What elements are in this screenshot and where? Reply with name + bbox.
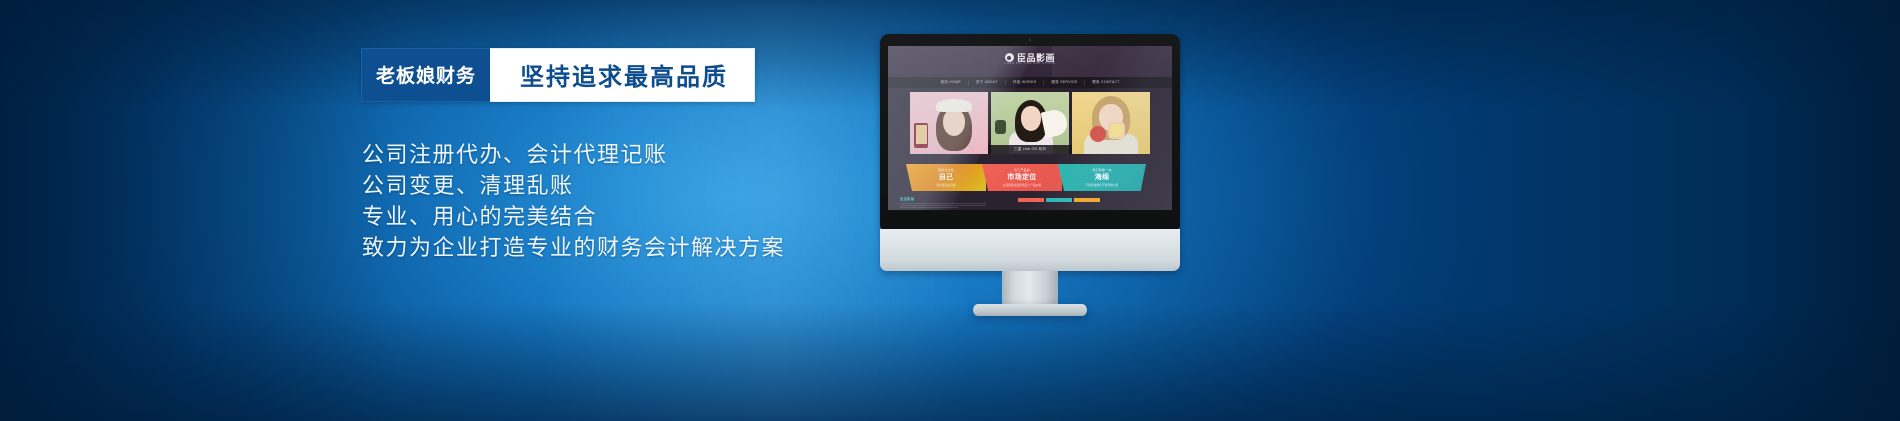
nav-item-works[interactable]: 作品 WORKS [1006, 80, 1044, 85]
gallery-strip: 三星 chat ON 系列 [910, 92, 1150, 154]
imac-bezel: 臣品影画 CHEN PIN YING HUA STUDIO 首页 HOME 关于… [880, 34, 1180, 229]
imac-stand-base [973, 304, 1087, 316]
gallery-photo[interactable] [1072, 92, 1150, 154]
photo-detail [1090, 126, 1106, 142]
text-placeholder-line [900, 205, 986, 206]
service-line: 公司变更、清理乱账 [362, 171, 785, 201]
gallery-caption: 三星 chat ON 系列 [988, 145, 1072, 154]
headline-badge: 老板娘财务 坚持追求最高品质 [361, 48, 755, 102]
site-header: 臣品影画 CHEN PIN YING HUA STUDIO [888, 46, 1172, 77]
promo-card-bottom: 用创意表达自我 [936, 183, 955, 187]
nav-item-about[interactable]: 关于 ABOUT [969, 80, 1006, 85]
promo-card-bottom: 从消费者出发重新定义产品价值 [1003, 183, 1041, 187]
site-logo-subtitle: CHEN PIN YING HUA STUDIO [888, 61, 1172, 65]
imac-screen: 臣品影画 CHEN PIN YING HUA STUDIO 首页 HOME 关于… [888, 46, 1172, 210]
color-tab[interactable] [1046, 198, 1072, 202]
promo-card-title: 海绵 [1095, 172, 1110, 182]
imac-chin [880, 229, 1180, 271]
photo-detail [995, 120, 1006, 134]
service-line: 专业、用心的完美结合 [362, 202, 785, 232]
photo-detail [943, 109, 965, 136]
site-footer-text-lines [900, 203, 986, 209]
site-footer: 臣品影画 [900, 196, 986, 210]
apple-logo-icon [1023, 239, 1037, 255]
color-tab[interactable] [1018, 198, 1044, 202]
promo-card-title: 自己 [939, 172, 954, 182]
nav-item-home[interactable]: 首页 HOME [933, 80, 968, 85]
headline-text: 坚持追求最高品质 [490, 48, 755, 102]
promo-card[interactable]: 为了产品的 市场定位 从消费者出发重新定义产品价值 [982, 164, 1062, 191]
brand-tag: 老板娘财务 [361, 48, 490, 102]
promo-card-bottom: 不断吸收精华不断释放创意 [1086, 183, 1119, 187]
promo-cards: 把想法交给 自己 用创意表达自我 为了产品的 市场定位 从消费者出发重新定义产品… [906, 164, 1154, 191]
website-preview: 臣品影画 CHEN PIN YING HUA STUDIO 首页 HOME 关于… [888, 46, 1172, 210]
photo-detail [1110, 124, 1123, 137]
promo-card-title: 市场定位 [1007, 172, 1036, 182]
photo-detail [936, 99, 972, 112]
promo-card[interactable]: 把想法交给 自己 用创意表达自我 [906, 164, 986, 191]
imac-stand-neck [1002, 271, 1058, 307]
promo-card[interactable]: 我们就像一块 海绵 不断吸收精华不断释放创意 [1058, 164, 1146, 191]
hero-banner: 老板娘财务 坚持追求最高品质 公司注册代办、会计代理记账 公司变更、清理乱账 专… [0, 0, 1900, 421]
site-nav[interactable]: 首页 HOME 关于 ABOUT 作品 WORKS 服务 SERVICE 联系 … [888, 77, 1172, 88]
nav-item-service[interactable]: 服务 SERVICE [1044, 80, 1085, 85]
promo-card-top: 把想法交给 [938, 168, 954, 172]
nav-item-contact[interactable]: 联系 CONTACT [1085, 80, 1126, 85]
footer-color-tabs [1018, 198, 1100, 202]
imac-mockup: 臣品影画 CHEN PIN YING HUA STUDIO 首页 HOME 关于… [880, 34, 1180, 304]
promo-card-top: 我们就像一块 [1092, 168, 1111, 172]
service-line: 致力为企业打造专业的财务会计解决方案 [362, 233, 785, 263]
webcam-icon [1029, 39, 1031, 41]
service-line: 公司注册代办、会计代理记账 [362, 140, 785, 170]
text-placeholder-line [900, 207, 958, 208]
service-list: 公司注册代办、会计代理记账 公司变更、清理乱账 专业、用心的完美结合 致力为企业… [362, 140, 785, 264]
gallery-photo[interactable] [910, 92, 988, 154]
site-footer-title: 臣品影画 [900, 196, 986, 201]
photo-detail [1021, 106, 1041, 131]
photo-detail [916, 125, 927, 144]
promo-card-top: 为了产品的 [1014, 168, 1030, 172]
color-tab[interactable] [1074, 198, 1100, 202]
photo-detail [1041, 108, 1069, 138]
text-placeholder-line [900, 203, 986, 204]
